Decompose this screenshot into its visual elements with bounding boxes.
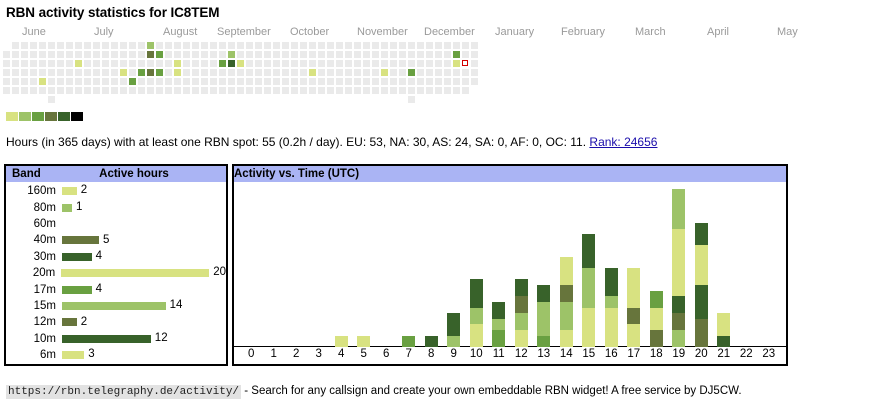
heatmap-cell[interactable] xyxy=(399,87,406,94)
heatmap-cell[interactable] xyxy=(12,42,19,49)
heatmap-cell[interactable] xyxy=(282,78,289,85)
heatmap-cell[interactable] xyxy=(21,60,28,67)
heatmap-cell[interactable] xyxy=(408,78,415,85)
heatmap-cell[interactable] xyxy=(417,51,424,58)
heatmap-cell[interactable] xyxy=(57,42,64,49)
heatmap-cell[interactable] xyxy=(30,69,37,76)
heatmap-cell[interactable] xyxy=(75,87,82,94)
heatmap-cell[interactable] xyxy=(300,69,307,76)
heatmap-cell[interactable] xyxy=(93,87,100,94)
heatmap-cell[interactable] xyxy=(228,78,235,85)
heatmap-cell[interactable] xyxy=(264,69,271,76)
heatmap-cell[interactable] xyxy=(399,60,406,67)
heatmap-cell[interactable] xyxy=(102,78,109,85)
heatmap-cell[interactable] xyxy=(219,42,226,49)
heatmap-cell[interactable] xyxy=(165,87,172,94)
heatmap-cell[interactable] xyxy=(255,42,262,49)
heatmap-cell[interactable] xyxy=(174,78,181,85)
heatmap-cell[interactable] xyxy=(21,78,28,85)
heatmap-cell[interactable] xyxy=(210,51,217,58)
heatmap-cell[interactable] xyxy=(84,78,91,85)
heatmap-cell[interactable] xyxy=(327,69,334,76)
heatmap-cell[interactable] xyxy=(345,42,352,49)
heatmap-cell[interactable] xyxy=(246,60,253,67)
heatmap-cell[interactable] xyxy=(102,60,109,67)
heatmap-cell[interactable] xyxy=(273,87,280,94)
heatmap-cell[interactable] xyxy=(246,51,253,58)
heatmap-cell[interactable] xyxy=(390,78,397,85)
heatmap-cell[interactable] xyxy=(291,69,298,76)
heatmap-cell[interactable] xyxy=(408,96,415,103)
heatmap-cell[interactable] xyxy=(246,87,253,94)
heatmap-cell[interactable] xyxy=(399,42,406,49)
heatmap-cell[interactable] xyxy=(237,87,244,94)
heatmap-cell[interactable] xyxy=(462,51,469,58)
heatmap-cell[interactable] xyxy=(273,69,280,76)
heatmap-cell[interactable] xyxy=(147,42,154,49)
heatmap-cell[interactable] xyxy=(435,60,442,67)
chart-bar[interactable] xyxy=(515,279,528,347)
heatmap-cell[interactable] xyxy=(363,78,370,85)
heatmap-cell[interactable] xyxy=(363,69,370,76)
heatmap-cell[interactable] xyxy=(210,42,217,49)
heatmap-cell[interactable] xyxy=(3,51,10,58)
heatmap-cell[interactable] xyxy=(417,87,424,94)
heatmap-cell[interactable] xyxy=(183,51,190,58)
heatmap-cell[interactable] xyxy=(426,42,433,49)
heatmap-cell[interactable] xyxy=(174,87,181,94)
heatmap-cell[interactable] xyxy=(264,51,271,58)
heatmap-cell[interactable] xyxy=(345,87,352,94)
heatmap-cell[interactable] xyxy=(138,78,145,85)
heatmap-cell[interactable] xyxy=(300,51,307,58)
heatmap-cell[interactable] xyxy=(201,42,208,49)
heatmap-cell[interactable] xyxy=(255,60,262,67)
heatmap-cell[interactable] xyxy=(381,51,388,58)
heatmap-cell[interactable] xyxy=(246,78,253,85)
heatmap-cell[interactable] xyxy=(453,51,460,58)
heatmap-cell[interactable] xyxy=(57,87,64,94)
heatmap-cell[interactable] xyxy=(3,69,10,76)
heatmap-cell[interactable] xyxy=(363,51,370,58)
heatmap-cell[interactable] xyxy=(435,78,442,85)
heatmap-cell[interactable] xyxy=(93,78,100,85)
heatmap-cell[interactable] xyxy=(111,42,118,49)
heatmap-cell[interactable] xyxy=(84,51,91,58)
heatmap-cell[interactable] xyxy=(174,42,181,49)
chart-bar[interactable] xyxy=(695,223,708,347)
heatmap-cell[interactable] xyxy=(291,87,298,94)
heatmap-cell[interactable] xyxy=(408,69,415,76)
heatmap-cell[interactable] xyxy=(237,51,244,58)
heatmap-cell[interactable] xyxy=(111,51,118,58)
heatmap-cell[interactable] xyxy=(3,78,10,85)
heatmap-cell[interactable] xyxy=(363,87,370,94)
heatmap-cell[interactable] xyxy=(426,60,433,67)
heatmap-cell[interactable] xyxy=(111,69,118,76)
heatmap-cell[interactable] xyxy=(129,78,136,85)
heatmap-cell[interactable] xyxy=(372,87,379,94)
heatmap-cell[interactable] xyxy=(417,69,424,76)
heatmap-cell[interactable] xyxy=(336,69,343,76)
heatmap-cell[interactable] xyxy=(444,69,451,76)
heatmap-cell[interactable] xyxy=(21,69,28,76)
heatmap-cell[interactable] xyxy=(381,87,388,94)
heatmap-cell[interactable] xyxy=(66,60,73,67)
heatmap-cell[interactable] xyxy=(399,69,406,76)
heatmap-cell[interactable] xyxy=(84,87,91,94)
heatmap-cell[interactable] xyxy=(12,78,19,85)
chart-bar[interactable] xyxy=(402,336,415,347)
heatmap-cell[interactable] xyxy=(111,78,118,85)
heatmap-cell[interactable] xyxy=(129,87,136,94)
heatmap-cell[interactable] xyxy=(111,87,118,94)
heatmap-cell[interactable] xyxy=(183,42,190,49)
heatmap-cell[interactable] xyxy=(165,60,172,67)
heatmap-cell[interactable] xyxy=(192,69,199,76)
chart-bar[interactable] xyxy=(717,313,730,347)
heatmap-cell[interactable] xyxy=(381,69,388,76)
heatmap-cell[interactable] xyxy=(372,69,379,76)
heatmap-cell[interactable] xyxy=(12,60,19,67)
heatmap-cell[interactable] xyxy=(39,69,46,76)
heatmap-cell[interactable] xyxy=(336,60,343,67)
heatmap-cell[interactable] xyxy=(66,87,73,94)
heatmap-cell[interactable] xyxy=(309,51,316,58)
heatmap-cell[interactable] xyxy=(48,60,55,67)
heatmap-cell[interactable] xyxy=(336,87,343,94)
heatmap-cell[interactable] xyxy=(84,69,91,76)
heatmap-cell[interactable] xyxy=(318,69,325,76)
chart-bar[interactable] xyxy=(425,336,438,347)
heatmap-cell[interactable] xyxy=(147,60,154,67)
heatmap-cell[interactable] xyxy=(183,60,190,67)
heatmap-cell[interactable] xyxy=(471,42,478,49)
heatmap-cell[interactable] xyxy=(309,78,316,85)
chart-bar[interactable] xyxy=(627,268,640,347)
heatmap-cell[interactable] xyxy=(390,69,397,76)
heatmap-cell[interactable] xyxy=(390,60,397,67)
heatmap-cell[interactable] xyxy=(345,51,352,58)
heatmap-cell[interactable] xyxy=(309,69,316,76)
heatmap-cell[interactable] xyxy=(264,87,271,94)
heatmap-cell[interactable] xyxy=(282,87,289,94)
heatmap-cell[interactable] xyxy=(318,42,325,49)
heatmap-cell[interactable] xyxy=(282,42,289,49)
heatmap-cell[interactable] xyxy=(201,78,208,85)
heatmap-cell[interactable] xyxy=(156,69,163,76)
heatmap-cell[interactable] xyxy=(156,42,163,49)
heatmap-cell[interactable] xyxy=(30,78,37,85)
heatmap-cell[interactable] xyxy=(39,60,46,67)
chart-bar[interactable] xyxy=(672,189,685,347)
heatmap-cell[interactable] xyxy=(120,42,127,49)
heatmap-cell[interactable] xyxy=(12,51,19,58)
heatmap-cell[interactable] xyxy=(453,78,460,85)
heatmap-cell[interactable] xyxy=(156,87,163,94)
heatmap-cell[interactable] xyxy=(354,60,361,67)
heatmap-cell[interactable] xyxy=(309,60,316,67)
heatmap-cell[interactable] xyxy=(282,60,289,67)
heatmap-cell[interactable] xyxy=(66,42,73,49)
heatmap-cell[interactable] xyxy=(228,51,235,58)
heatmap-cell[interactable] xyxy=(417,78,424,85)
heatmap-cell[interactable] xyxy=(66,78,73,85)
heatmap-cell[interactable] xyxy=(408,60,415,67)
heatmap-cell[interactable] xyxy=(318,78,325,85)
heatmap-cell[interactable] xyxy=(39,51,46,58)
heatmap-cell[interactable] xyxy=(3,87,10,94)
heatmap-cell[interactable] xyxy=(354,87,361,94)
heatmap-cell[interactable] xyxy=(147,78,154,85)
heatmap-cell[interactable] xyxy=(57,69,64,76)
heatmap-cell[interactable] xyxy=(471,60,478,67)
heatmap-cell[interactable] xyxy=(183,69,190,76)
heatmap-cell[interactable] xyxy=(30,51,37,58)
heatmap-cell[interactable] xyxy=(165,42,172,49)
heatmap-cell[interactable] xyxy=(210,69,217,76)
heatmap-cell[interactable] xyxy=(21,42,28,49)
heatmap-cell[interactable] xyxy=(354,42,361,49)
chart-bar[interactable] xyxy=(605,268,618,347)
chart-plot-area[interactable] xyxy=(234,182,786,347)
heatmap-cell[interactable] xyxy=(336,78,343,85)
heatmap-cell[interactable] xyxy=(453,69,460,76)
heatmap-cell[interactable] xyxy=(174,69,181,76)
chart-bar[interactable] xyxy=(560,257,573,347)
heatmap-cell[interactable] xyxy=(390,87,397,94)
heatmap-cell[interactable] xyxy=(111,60,118,67)
heatmap-cell[interactable] xyxy=(408,51,415,58)
heatmap-cell[interactable] xyxy=(255,78,262,85)
heatmap-cell[interactable] xyxy=(273,42,280,49)
heatmap-cell[interactable] xyxy=(444,42,451,49)
heatmap-cell[interactable] xyxy=(372,42,379,49)
heatmap-cell[interactable] xyxy=(48,78,55,85)
heatmap-cell[interactable] xyxy=(399,78,406,85)
heatmap-cell[interactable] xyxy=(102,87,109,94)
heatmap-cell[interactable] xyxy=(300,42,307,49)
heatmap-cell[interactable] xyxy=(165,78,172,85)
heatmap-cell[interactable] xyxy=(138,69,145,76)
heatmap-cell[interactable] xyxy=(318,60,325,67)
rank-link[interactable]: Rank: 24656 xyxy=(589,135,657,149)
heatmap-cell[interactable] xyxy=(237,42,244,49)
heatmap-cell[interactable] xyxy=(291,42,298,49)
heatmap-cell[interactable] xyxy=(273,51,280,58)
heatmap-cell[interactable] xyxy=(21,51,28,58)
heatmap-cell[interactable] xyxy=(165,69,172,76)
heatmap-cell[interactable] xyxy=(183,78,190,85)
heatmap-cell[interactable] xyxy=(57,78,64,85)
heatmap-cell[interactable] xyxy=(219,60,226,67)
heatmap-cell[interactable] xyxy=(345,69,352,76)
heatmap-cell[interactable] xyxy=(435,87,442,94)
heatmap-cell[interactable] xyxy=(462,69,469,76)
heatmap-cell[interactable] xyxy=(75,78,82,85)
heatmap-cell[interactable] xyxy=(75,60,82,67)
heatmap-cell[interactable] xyxy=(435,42,442,49)
heatmap-cell[interactable] xyxy=(48,42,55,49)
chart-bar[interactable] xyxy=(537,285,550,347)
heatmap-cell[interactable] xyxy=(246,42,253,49)
heatmap-cell[interactable] xyxy=(138,60,145,67)
heatmap-cell[interactable] xyxy=(327,60,334,67)
heatmap-cell[interactable] xyxy=(255,51,262,58)
heatmap-cell[interactable] xyxy=(120,69,127,76)
heatmap-cell[interactable] xyxy=(201,87,208,94)
heatmap-cell[interactable] xyxy=(372,78,379,85)
heatmap-cell[interactable] xyxy=(282,51,289,58)
heatmap-cell[interactable] xyxy=(390,42,397,49)
heatmap-cell[interactable] xyxy=(48,51,55,58)
heatmap-cell[interactable] xyxy=(210,60,217,67)
heatmap-cell[interactable] xyxy=(255,87,262,94)
heatmap-cell[interactable] xyxy=(453,60,460,67)
heatmap-cell[interactable] xyxy=(219,51,226,58)
heatmap-cell[interactable] xyxy=(156,51,163,58)
heatmap-cell[interactable] xyxy=(264,78,271,85)
heatmap-cell[interactable] xyxy=(57,60,64,67)
heatmap-cell[interactable] xyxy=(228,60,235,67)
heatmap-cell[interactable] xyxy=(381,60,388,67)
heatmap-cell[interactable] xyxy=(93,51,100,58)
heatmap-cell[interactable] xyxy=(435,69,442,76)
heatmap-cell[interactable] xyxy=(102,69,109,76)
heatmap-cell[interactable] xyxy=(66,69,73,76)
heatmap-cell[interactable] xyxy=(66,51,73,58)
heatmap-cell[interactable] xyxy=(462,60,468,66)
heatmap-cell[interactable] xyxy=(318,51,325,58)
heatmap-cell[interactable] xyxy=(471,69,478,76)
heatmap-cell[interactable] xyxy=(210,78,217,85)
heatmap-cell[interactable] xyxy=(327,42,334,49)
heatmap-cell[interactable] xyxy=(48,87,55,94)
heatmap-cell[interactable] xyxy=(48,69,55,76)
heatmap-cell[interactable] xyxy=(237,69,244,76)
heatmap-cell[interactable] xyxy=(282,69,289,76)
heatmap-cell[interactable] xyxy=(93,42,100,49)
heatmap-cell[interactable] xyxy=(345,60,352,67)
heatmap-cell[interactable] xyxy=(255,69,262,76)
heatmap-cell[interactable] xyxy=(201,51,208,58)
heatmap-cell[interactable] xyxy=(39,78,46,85)
heatmap-cell[interactable] xyxy=(12,69,19,76)
heatmap-cell[interactable] xyxy=(291,60,298,67)
heatmap-cell[interactable] xyxy=(435,51,442,58)
heatmap-cell[interactable] xyxy=(462,87,469,94)
heatmap-cell[interactable] xyxy=(93,60,100,67)
heatmap-cell[interactable] xyxy=(201,60,208,67)
heatmap-cell[interactable] xyxy=(201,69,208,76)
heatmap-cell[interactable] xyxy=(219,69,226,76)
heatmap-cell[interactable] xyxy=(120,60,127,67)
heatmap-cell[interactable] xyxy=(138,87,145,94)
heatmap-cell[interactable] xyxy=(381,42,388,49)
heatmap-cell[interactable] xyxy=(237,78,244,85)
heatmap-cell[interactable] xyxy=(345,78,352,85)
heatmap-cell[interactable] xyxy=(471,78,478,85)
heatmap-cell[interactable] xyxy=(120,51,127,58)
heatmap-cell[interactable] xyxy=(381,78,388,85)
heatmap-cell[interactable] xyxy=(120,78,127,85)
heatmap-cell[interactable] xyxy=(3,60,10,67)
heatmap-cell[interactable] xyxy=(291,51,298,58)
chart-bar[interactable] xyxy=(357,336,370,347)
heatmap-cell[interactable] xyxy=(174,51,181,58)
chart-bar[interactable] xyxy=(470,279,483,347)
heatmap-cell[interactable] xyxy=(129,69,136,76)
heatmap-cell[interactable] xyxy=(228,42,235,49)
heatmap-cell[interactable] xyxy=(264,60,271,67)
heatmap-cell[interactable] xyxy=(21,87,28,94)
heatmap-cell[interactable] xyxy=(363,60,370,67)
heatmap-cell[interactable] xyxy=(12,87,19,94)
heatmap-cell[interactable] xyxy=(309,87,316,94)
heatmap-cell[interactable] xyxy=(165,51,172,58)
heatmap-cell[interactable] xyxy=(192,87,199,94)
heatmap-cell[interactable] xyxy=(228,69,235,76)
heatmap-cell[interactable] xyxy=(327,51,334,58)
heatmap-cell[interactable] xyxy=(408,87,415,94)
heatmap-cell[interactable] xyxy=(426,78,433,85)
heatmap-cell[interactable] xyxy=(237,60,244,67)
heatmap-cell[interactable] xyxy=(471,51,478,58)
heatmap-cell[interactable] xyxy=(48,96,55,103)
heatmap-cell[interactable] xyxy=(138,51,145,58)
heatmap-grid[interactable] xyxy=(0,42,870,114)
heatmap-cell[interactable] xyxy=(444,78,451,85)
heatmap-cell[interactable] xyxy=(246,69,253,76)
heatmap-cell[interactable] xyxy=(147,69,154,76)
heatmap-cell[interactable] xyxy=(219,78,226,85)
heatmap-cell[interactable] xyxy=(444,51,451,58)
heatmap-cell[interactable] xyxy=(273,60,280,67)
heatmap-cell[interactable] xyxy=(192,78,199,85)
heatmap-cell[interactable] xyxy=(129,42,136,49)
heatmap-cell[interactable] xyxy=(84,60,91,67)
heatmap-cell[interactable] xyxy=(336,42,343,49)
heatmap-cell[interactable] xyxy=(354,78,361,85)
heatmap-cell[interactable] xyxy=(408,42,415,49)
heatmap-cell[interactable] xyxy=(363,42,370,49)
heatmap-cell[interactable] xyxy=(156,78,163,85)
chart-bar[interactable] xyxy=(447,313,460,347)
heatmap-cell[interactable] xyxy=(30,42,37,49)
heatmap-cell[interactable] xyxy=(138,42,145,49)
heatmap-cell[interactable] xyxy=(354,69,361,76)
heatmap-cell[interactable] xyxy=(354,51,361,58)
heatmap-cell[interactable] xyxy=(309,42,316,49)
heatmap-cell[interactable] xyxy=(417,42,424,49)
heatmap-cell[interactable] xyxy=(120,87,127,94)
heatmap-cell[interactable] xyxy=(417,60,424,67)
heatmap-cell[interactable] xyxy=(39,87,46,94)
heatmap-cell[interactable] xyxy=(462,78,469,85)
heatmap-cell[interactable] xyxy=(399,51,406,58)
heatmap-cell[interactable] xyxy=(444,60,451,67)
heatmap-cell[interactable] xyxy=(372,60,379,67)
heatmap-cell[interactable] xyxy=(453,42,460,49)
heatmap-cell[interactable] xyxy=(300,87,307,94)
heatmap-cell[interactable] xyxy=(336,51,343,58)
heatmap-cell[interactable] xyxy=(93,69,100,76)
heatmap-cell[interactable] xyxy=(129,60,136,67)
heatmap-cell[interactable] xyxy=(30,60,37,67)
heatmap-cell[interactable] xyxy=(102,51,109,58)
heatmap-cell[interactable] xyxy=(174,60,181,67)
heatmap-cell[interactable] xyxy=(102,42,109,49)
